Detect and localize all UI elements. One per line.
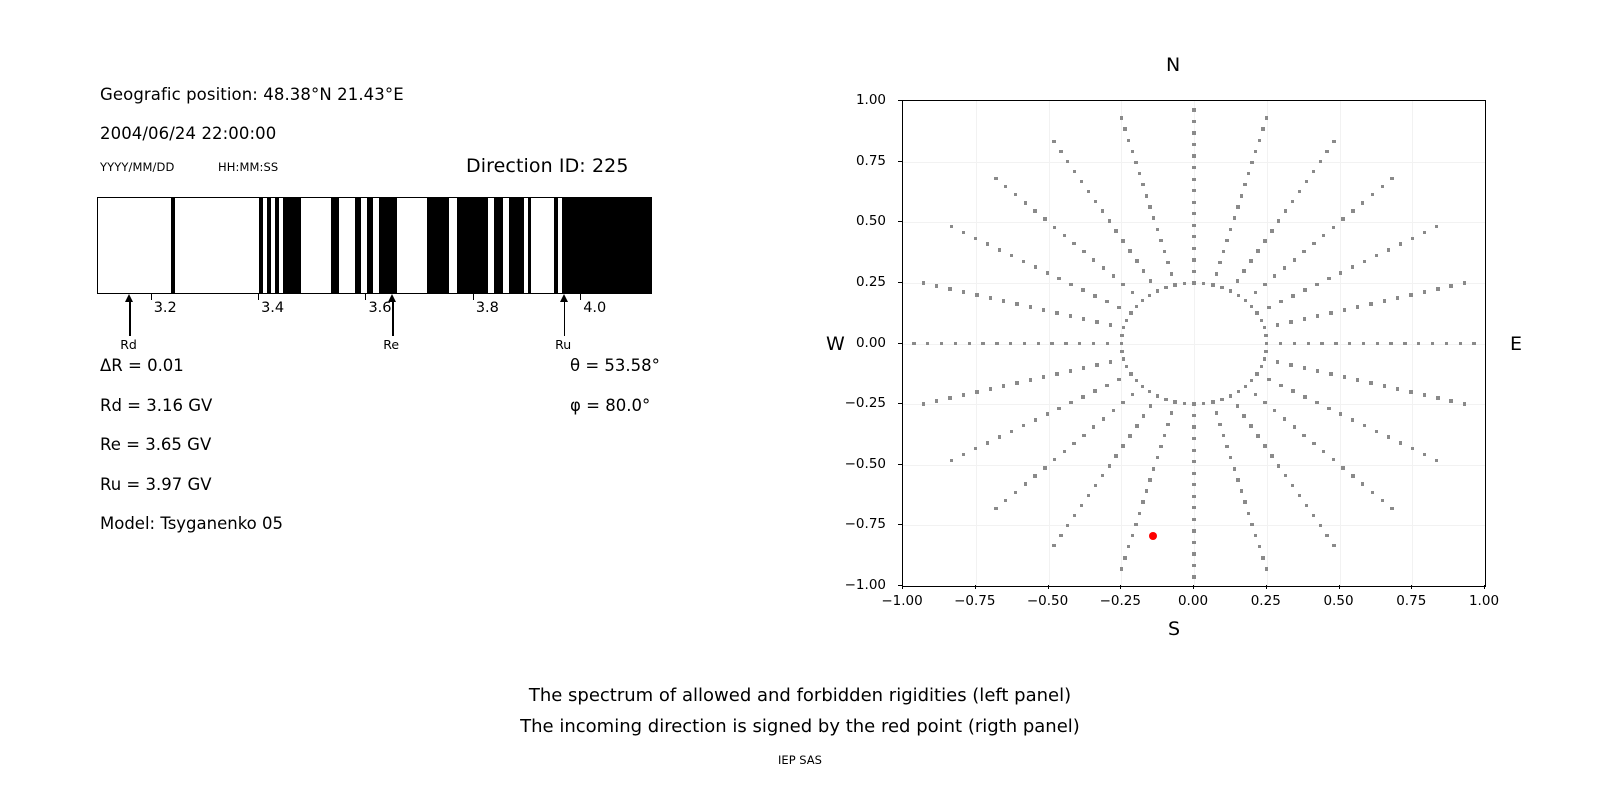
y-tick-mark	[898, 403, 902, 404]
direction-dot	[1192, 552, 1195, 555]
direction-dot	[962, 290, 965, 293]
direction-dot	[1249, 424, 1252, 427]
direction-dot	[1192, 247, 1195, 250]
direction-dot	[1015, 381, 1018, 384]
direction-dot	[1135, 305, 1138, 308]
direction-dot	[1327, 277, 1330, 280]
y-tick-label: −1.00	[845, 577, 886, 593]
direction-dot	[1351, 474, 1354, 477]
direction-dot	[950, 225, 953, 228]
direction-dot	[1022, 424, 1025, 427]
direction-dot	[986, 441, 989, 444]
direction-dot	[1101, 474, 1104, 477]
direction-dot	[1131, 291, 1134, 294]
direction-dot	[1361, 482, 1364, 485]
direction-dot	[1263, 239, 1266, 242]
direction-dot	[1472, 342, 1475, 345]
direction-dot	[1114, 229, 1117, 232]
direction-dot	[1053, 226, 1056, 229]
direction-dot	[1131, 150, 1134, 153]
direction-dot	[1192, 212, 1195, 215]
direction-dot	[1120, 116, 1123, 119]
direction-dot	[1092, 342, 1095, 345]
direction-dot	[1095, 320, 1098, 323]
direction-dot	[1387, 248, 1390, 251]
direction-dot	[1121, 239, 1124, 242]
direction-dot	[1192, 518, 1195, 521]
direction-dot	[1215, 272, 1218, 275]
direction-dot	[1263, 401, 1266, 404]
direction-dot	[950, 459, 953, 462]
direction-dot	[1329, 311, 1332, 314]
direction-dot	[1332, 544, 1335, 547]
direction-dot	[1263, 283, 1266, 286]
direction-dot	[1192, 460, 1195, 463]
direction-dot	[1237, 390, 1240, 393]
direction-dot	[1109, 323, 1112, 326]
direction-dot	[1319, 160, 1322, 163]
y-tick-mark	[898, 524, 902, 525]
direction-dot	[922, 281, 925, 284]
direction-dot	[1435, 459, 1438, 462]
direction-dot	[1218, 423, 1221, 426]
direction-dot	[1105, 300, 1108, 303]
direction-dot	[1134, 161, 1137, 164]
direction-dot	[1332, 140, 1335, 143]
gridline-horizontal	[903, 162, 1485, 163]
direction-dot	[1093, 294, 1096, 297]
y-tick-mark	[898, 464, 902, 465]
direction-dot	[1192, 201, 1195, 204]
direction-dot	[1362, 342, 1365, 345]
direction-dot	[1356, 378, 1359, 381]
param-ru: Ru = 3.97 GV	[100, 475, 212, 494]
direction-dot	[1265, 342, 1268, 345]
direction-dot	[1015, 302, 1018, 305]
direction-dot	[1302, 434, 1305, 437]
direction-dot	[1267, 306, 1270, 309]
direction-dot	[1341, 466, 1344, 469]
direction-dot	[1166, 261, 1169, 264]
direction-dot	[922, 402, 925, 405]
direction-dot	[1242, 414, 1245, 417]
forbidden-band	[267, 198, 271, 293]
gridline-horizontal	[903, 344, 1485, 345]
direction-dot	[1273, 409, 1276, 412]
direction-dot	[1279, 300, 1282, 303]
direction-dot	[1014, 193, 1017, 196]
geographic-position-label: Geografic position: 48.38°N 21.43°E	[100, 85, 404, 104]
forbidden-band	[494, 198, 504, 293]
direction-dot	[1052, 544, 1055, 547]
direction-dot	[1229, 228, 1232, 231]
direction-dot	[1173, 283, 1176, 286]
direction-dot	[1371, 491, 1374, 494]
y-tick-label: 0.75	[856, 153, 886, 169]
direction-dot	[1082, 434, 1085, 437]
direction-dot	[1244, 299, 1247, 302]
y-tick-label: 1.00	[856, 92, 886, 108]
direction-dot	[1265, 567, 1268, 570]
direction-dot	[962, 453, 965, 456]
direction-dot	[1042, 375, 1045, 378]
direction-dot	[1114, 454, 1117, 457]
direction-dot	[1277, 464, 1280, 467]
direction-dot	[1156, 289, 1159, 292]
x-tick-mark	[1120, 585, 1121, 589]
direction-dot	[1215, 411, 1218, 414]
direction-dot	[1363, 424, 1366, 427]
forbidden-band	[379, 198, 397, 293]
direction-dot	[1291, 294, 1294, 297]
direction-dot	[935, 284, 938, 287]
direction-dot	[1436, 287, 1439, 290]
forbidden-band	[562, 198, 651, 293]
direction-dot	[1202, 402, 1205, 405]
direction-dot	[1390, 177, 1393, 180]
direction-dot	[1361, 201, 1364, 204]
x-tick-label: 1.00	[1469, 593, 1499, 609]
direction-dot	[962, 231, 965, 234]
direction-dot	[1120, 334, 1123, 337]
x-tick-label: −0.75	[954, 593, 995, 609]
direction-dot	[1050, 342, 1053, 345]
direction-dot	[1057, 407, 1060, 410]
direction-dot	[1254, 150, 1257, 153]
direction-dot	[1289, 320, 1292, 323]
x-tick-mark	[1339, 585, 1340, 589]
direction-dot	[1270, 229, 1273, 232]
direction-dot	[1192, 472, 1195, 475]
rigidity-spectrum-bar	[97, 197, 652, 294]
direction-dot	[1298, 494, 1301, 497]
direction-dot	[1291, 389, 1294, 392]
direction-dot	[1261, 127, 1264, 130]
direction-dot	[1327, 407, 1330, 410]
direction-dot	[975, 293, 978, 296]
rigidity-spectrum-panel: Geografic position: 48.38°N 21.43°E 2004…	[0, 0, 760, 660]
param-r: ΔR = 0.01	[100, 356, 184, 375]
direction-dot	[1192, 541, 1195, 544]
direction-dot	[1315, 283, 1318, 286]
direction-dot	[1303, 395, 1306, 398]
direction-dot	[1322, 450, 1325, 453]
direction-dot	[1409, 390, 1412, 393]
direction-dot	[1316, 314, 1319, 317]
direction-dot	[1263, 444, 1266, 447]
direction-dot	[1315, 401, 1318, 404]
direction-dot	[1072, 242, 1075, 245]
y-tick-label: 0.25	[856, 274, 886, 290]
direction-dot	[1242, 269, 1245, 272]
direction-dot	[1341, 217, 1344, 220]
direction-dot	[1112, 274, 1115, 277]
direction-dot	[1109, 360, 1112, 363]
direction-dot	[1043, 466, 1046, 469]
direction-dot	[1064, 342, 1067, 345]
direction-dot	[1369, 302, 1372, 305]
direction-dot	[1409, 293, 1412, 296]
direction-dot	[1376, 342, 1379, 345]
direction-dot	[1436, 396, 1439, 399]
direction-dot	[1322, 234, 1325, 237]
direction-dot	[1459, 342, 1462, 345]
forbidden-band	[171, 198, 175, 293]
direction-dot	[1117, 378, 1120, 381]
direction-dot	[1010, 254, 1013, 257]
direction-dot	[1127, 545, 1130, 548]
direction-dot	[1260, 365, 1263, 368]
direction-dot	[1332, 458, 1335, 461]
selected-direction-point	[1149, 532, 1157, 540]
direction-dot	[962, 393, 965, 396]
direction-dot	[1170, 411, 1173, 414]
direction-dot	[1170, 272, 1173, 275]
rigidity-tick	[258, 294, 259, 300]
direction-dot	[1082, 250, 1085, 253]
caption-line-1: The spectrum of allowed and forbidden ri…	[0, 680, 1600, 711]
date-format-hint: YYYY/MM/DD	[100, 160, 174, 174]
direction-dot	[989, 296, 992, 299]
direction-dot	[1240, 194, 1243, 197]
direction-dot	[1081, 395, 1084, 398]
direction-scatter-plot	[902, 100, 1486, 587]
caption-line-2: The incoming direction is signed by the …	[0, 711, 1600, 742]
direction-dot	[1023, 342, 1026, 345]
direction-dot	[1135, 259, 1138, 262]
direction-dot	[1383, 384, 1386, 387]
direction-dot	[1225, 445, 1228, 448]
direction-dot	[1192, 575, 1195, 578]
forbidden-band	[331, 198, 339, 293]
direction-dot	[1159, 445, 1162, 448]
direction-dot	[1329, 372, 1332, 375]
direction-dot	[1183, 402, 1186, 405]
param-phi: φ = 80.0°	[570, 396, 650, 415]
direction-dot	[1423, 453, 1426, 456]
x-tick-mark	[975, 585, 976, 589]
marker-arrow-rd	[124, 294, 136, 336]
direction-dot	[1348, 342, 1351, 345]
direction-dot	[1192, 425, 1195, 428]
direction-dot	[1225, 239, 1228, 242]
direction-id-label: Direction ID: 225	[466, 155, 629, 177]
direction-dot	[986, 242, 989, 245]
direction-dot	[1284, 209, 1287, 212]
direction-dot	[1305, 504, 1308, 507]
direction-dot	[1141, 385, 1144, 388]
direction-dot	[1129, 311, 1132, 314]
direction-dot	[948, 287, 951, 290]
direction-dot	[1122, 326, 1125, 329]
direction-dot	[1237, 294, 1240, 297]
direction-dot	[912, 342, 915, 345]
direction-dot	[1243, 183, 1246, 186]
direction-dot	[1449, 284, 1452, 287]
direction-dot	[1303, 366, 1306, 369]
direction-dot	[995, 342, 998, 345]
gridline-horizontal	[903, 525, 1485, 526]
direction-dot	[1125, 365, 1128, 368]
direction-dot	[1435, 225, 1438, 228]
direction-dot	[1307, 342, 1310, 345]
rigidity-tick	[151, 294, 152, 300]
direction-dot	[1055, 311, 1058, 314]
direction-dot	[1037, 342, 1040, 345]
direction-dot	[1066, 524, 1069, 527]
forbidden-band	[283, 198, 301, 293]
direction-dot	[1069, 314, 1072, 317]
rigidity-axis: 3.23.43.63.84.0RdReRu	[97, 294, 652, 354]
direction-dot	[1102, 417, 1105, 420]
marker-arrow-re	[387, 294, 399, 336]
x-tick-mark	[1193, 585, 1194, 589]
x-tick-label: 0.75	[1396, 593, 1426, 609]
rigidity-tick-label: 4.0	[583, 300, 606, 316]
direction-dot	[1042, 308, 1045, 311]
direction-dot	[1240, 489, 1243, 492]
direction-dot	[1375, 430, 1378, 433]
figure-caption: The spectrum of allowed and forbidden ri…	[0, 680, 1600, 742]
direction-dot	[1192, 166, 1195, 169]
direction-dot	[1192, 235, 1195, 238]
direction-dot	[1375, 254, 1378, 257]
direction-dot	[989, 387, 992, 390]
y-tick-label: −0.25	[845, 395, 886, 411]
direction-dot	[1121, 401, 1124, 404]
marker-arrow-ru	[559, 294, 571, 336]
direction-dot	[1250, 379, 1253, 382]
direction-dot	[1258, 139, 1261, 142]
direction-dot	[940, 342, 943, 345]
direction-dot	[1265, 116, 1268, 119]
forbidden-band	[367, 198, 373, 293]
direction-dot	[1276, 360, 1279, 363]
direction-dot	[1389, 342, 1392, 345]
direction-dot	[1192, 483, 1195, 486]
direction-dot	[1291, 200, 1294, 203]
direction-dot	[1192, 270, 1195, 273]
direction-dot	[1363, 260, 1366, 263]
direction-dot	[1276, 323, 1279, 326]
footer-credit: IEP SAS	[0, 753, 1600, 767]
y-tick-label: 0.00	[856, 335, 886, 351]
direction-dot	[1289, 363, 1292, 366]
direction-dot	[1233, 216, 1236, 219]
direction-dot	[1152, 467, 1155, 470]
direction-dot	[1183, 282, 1186, 285]
direction-dot	[1141, 299, 1144, 302]
direction-dot	[1063, 450, 1066, 453]
direction-dot	[974, 237, 977, 240]
direction-dot	[1024, 201, 1027, 204]
direction-dot	[974, 447, 977, 450]
direction-dot	[1260, 319, 1263, 322]
direction-dot	[1063, 234, 1066, 237]
direction-dot	[1411, 237, 1414, 240]
direction-dot	[1325, 534, 1328, 537]
direction-dot	[1250, 305, 1253, 308]
direction-dot	[1138, 512, 1141, 515]
direction-dot	[1192, 224, 1195, 227]
direction-dot	[1123, 556, 1126, 559]
rigidity-tick	[580, 294, 581, 300]
direction-dot	[1255, 311, 1258, 314]
direction-dot	[1332, 226, 1335, 229]
direction-dot	[1034, 418, 1037, 421]
direction-dot	[1022, 260, 1025, 263]
compass-south-label: S	[1168, 618, 1180, 640]
x-tick-mark	[902, 585, 903, 589]
direction-dot	[1059, 534, 1062, 537]
direction-dot	[1236, 279, 1239, 282]
y-tick-mark	[898, 221, 902, 222]
direction-dot	[994, 507, 997, 510]
direction-dot	[1369, 381, 1372, 384]
direction-dot	[1121, 283, 1124, 286]
direction-dot	[935, 399, 938, 402]
direction-dot	[1220, 398, 1223, 401]
direction-dot	[1334, 342, 1337, 345]
direction-dot	[1339, 412, 1342, 415]
direction-dot	[1399, 441, 1402, 444]
x-tick-label: −0.50	[1027, 593, 1068, 609]
direction-dot	[1123, 127, 1126, 130]
direction-dot	[954, 342, 957, 345]
forbidden-band	[528, 198, 531, 293]
direction-dot	[1192, 189, 1195, 192]
direction-dot	[1351, 209, 1354, 212]
time-format-hint: HH:MM:SS	[218, 160, 278, 174]
direction-dot	[1263, 357, 1266, 360]
direction-dot	[1423, 290, 1426, 293]
direction-dot	[1192, 154, 1195, 157]
x-tick-label: 0.25	[1251, 593, 1281, 609]
direction-dot	[1312, 442, 1315, 445]
direction-dot	[1055, 372, 1058, 375]
direction-dot	[1411, 447, 1414, 450]
x-tick-label: 0.00	[1178, 593, 1208, 609]
direction-dot	[1120, 567, 1123, 570]
direction-dot	[1236, 404, 1239, 407]
direction-dot	[1449, 399, 1452, 402]
direction-dot	[1082, 317, 1085, 320]
direction-dot	[948, 396, 951, 399]
direction-dot	[1192, 529, 1195, 532]
direction-dot	[1053, 458, 1056, 461]
direction-dot	[1312, 514, 1315, 517]
x-tick-mark	[1266, 585, 1267, 589]
direction-dot	[1072, 442, 1075, 445]
forbidden-band	[355, 198, 361, 293]
direction-dot	[1396, 296, 1399, 299]
direction-dot	[1319, 524, 1322, 527]
direction-dot	[1192, 564, 1195, 567]
direction-dot	[1148, 294, 1151, 297]
y-tick-label: 0.50	[856, 213, 886, 229]
direction-dot	[1236, 205, 1239, 208]
direction-dot	[1381, 185, 1384, 188]
direction-dot	[1254, 291, 1257, 294]
direction-dot	[1112, 409, 1115, 412]
forbidden-band	[259, 198, 263, 293]
direction-dot	[1156, 456, 1159, 459]
rigidity-tick	[473, 294, 474, 300]
direction-dot	[1046, 412, 1049, 415]
direction-dot	[1052, 140, 1055, 143]
direction-dot	[1159, 239, 1162, 242]
direction-dot	[1002, 299, 1005, 302]
